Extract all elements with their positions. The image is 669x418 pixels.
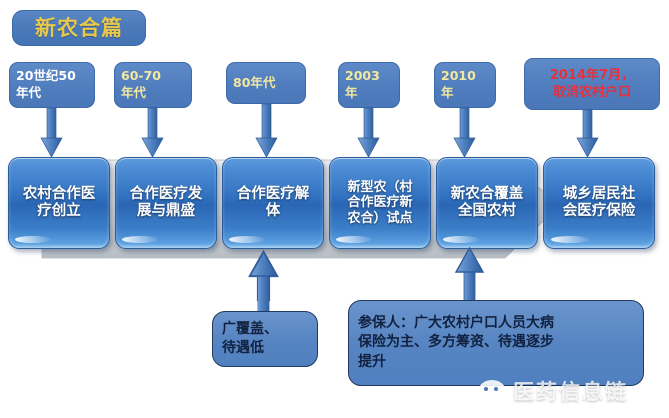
stage-box-insurance[interactable]: 城乡居民社 会医疗保险: [543, 157, 655, 249]
era-chip-2010[interactable]: 2010 年: [434, 62, 496, 108]
wechat-icon: [478, 380, 506, 403]
watermark-label: 医药信息链: [513, 376, 628, 406]
stage-box-pilot[interactable]: 新型农（村 合作医疗新 农合）试点: [329, 157, 431, 249]
connector-2003-to-pilot: [358, 108, 379, 157]
stage-box-collapse[interactable]: 合作医疗解 体: [222, 157, 324, 249]
stage-box-coverage[interactable]: 新农合覆盖 全国农村: [436, 157, 538, 249]
note-box-low-benefit[interactable]: 广覆盖、 待遇低: [212, 311, 318, 367]
era-chip-60-70[interactable]: 60-70 年代: [114, 62, 192, 108]
era-chip-2014[interactable]: 2014年7月， 取消农村户口: [524, 58, 660, 110]
stage-box-founding[interactable]: 农村合作医 疗创立: [8, 157, 110, 249]
connector-2010-to-coverage: [454, 108, 475, 157]
era-chip-2003[interactable]: 2003 年: [338, 62, 400, 108]
era-chip-80s[interactable]: 80年代: [226, 62, 306, 104]
connector-80s-to-collapse: [256, 104, 277, 157]
stage-box-peak[interactable]: 合作医疗发 展与鼎盛: [115, 157, 217, 249]
connector-note-low-benefit: [250, 252, 277, 320]
era-chip-1950s[interactable]: 20世纪50年代: [9, 62, 95, 108]
connector-1950s-to-founding: [41, 108, 62, 157]
note-box-insured[interactable]: 参保人：广大农村户口人员大病 保险为主、多方筹资、待遇逐步 提升: [348, 300, 644, 386]
watermark: 医药信息链: [478, 376, 628, 406]
infographic-canvas: 新农合篇 20世纪50年代 60-70 年代 80年代 2003 年 2010 …: [0, 0, 669, 418]
page-title: 新农合篇: [12, 10, 146, 46]
connector-60-70-to-peak: [142, 108, 163, 157]
connector-2014-to-insurance: [577, 110, 598, 157]
